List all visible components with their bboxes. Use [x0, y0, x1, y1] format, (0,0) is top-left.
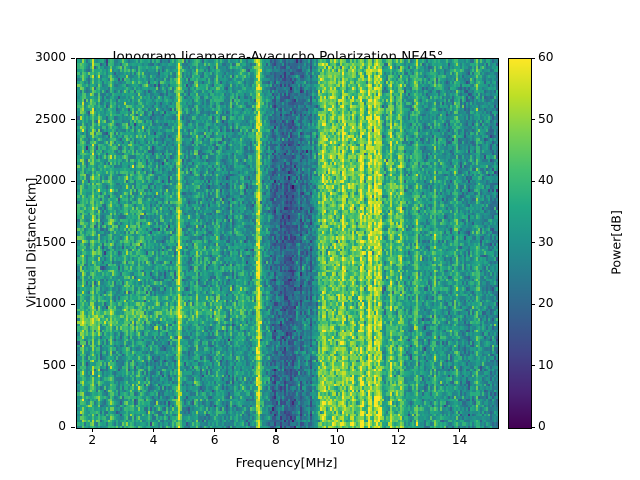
y-tick-mark [71, 242, 75, 243]
colorbar-tick-mark [532, 304, 536, 305]
y-tick-mark [71, 119, 75, 120]
x-tick-label: 12 [378, 433, 418, 447]
x-tick-label: 2 [72, 433, 112, 447]
x-tick-mark [337, 428, 338, 432]
colorbar-tick-mark [532, 119, 536, 120]
y-tick-mark [71, 181, 75, 182]
x-tick-mark [275, 428, 276, 432]
colorbar-tick-label: 0 [538, 419, 546, 433]
y-tick-mark [71, 427, 75, 428]
x-tick-label: 4 [133, 433, 173, 447]
x-tick-mark [398, 428, 399, 432]
x-tick-mark [153, 428, 154, 432]
x-tick-label: 8 [256, 433, 296, 447]
colorbar-tick-mark [532, 181, 536, 182]
colorbar-tick-mark [532, 365, 536, 366]
ionogram-figure: Ionogram Jicamarca-Ayacucho Polarization… [0, 0, 640, 480]
colorbar-label: Power[dB] [609, 123, 624, 363]
colorbar-tick-label: 20 [538, 296, 554, 310]
colorbar-tick-label: 10 [538, 358, 554, 372]
colorbar-tick-mark [532, 242, 536, 243]
x-tick-mark [214, 428, 215, 432]
colorbar-tick-label: 30 [538, 235, 554, 249]
colorbar-tick-label: 60 [538, 50, 554, 64]
x-axis-label: Frequency[MHz] [76, 455, 497, 470]
x-tick-mark [92, 428, 93, 432]
y-axis-label: Virtual Distance[km] [24, 123, 39, 363]
power-colorbar [508, 58, 532, 429]
colorbar-gradient [509, 59, 531, 428]
colorbar-tick-label: 50 [538, 112, 554, 126]
colorbar-tick-mark [532, 427, 536, 428]
x-tick-mark [459, 428, 460, 432]
colorbar-tick-mark [532, 58, 536, 59]
y-tick-mark [71, 304, 75, 305]
colorbar-tick-label: 40 [538, 173, 554, 187]
y-tick-label: 3000 [20, 50, 66, 64]
y-tick-mark [71, 58, 75, 59]
x-tick-label: 14 [440, 433, 480, 447]
ionogram-heatmap [77, 59, 498, 428]
x-tick-label: 6 [195, 433, 235, 447]
y-tick-mark [71, 365, 75, 366]
x-tick-label: 10 [317, 433, 357, 447]
y-tick-label: 0 [20, 419, 66, 433]
ionogram-plot-area [76, 58, 499, 429]
